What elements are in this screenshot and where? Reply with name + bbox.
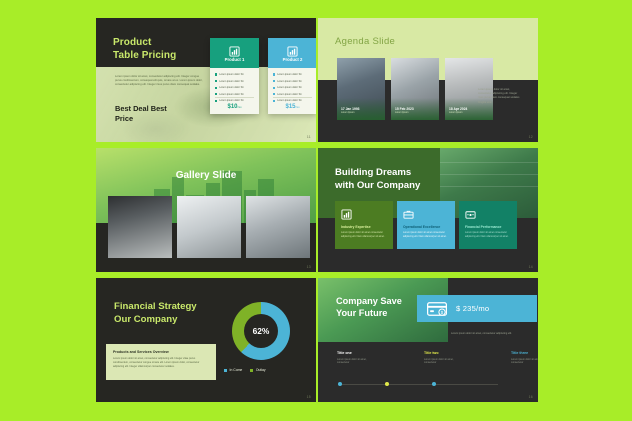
briefcase-icon [403,207,414,224]
photo-caption: 18 Apr 2024 Lorem Ipsum [449,107,467,114]
bar-chart-icon [287,44,298,55]
feature-card-industry-expertise[interactable]: Industry Expertise Lorem ipsum dolor sit… [335,201,393,249]
credit-card-icon: $ [427,302,447,316]
title-line-1: Product [113,37,151,48]
card-title: Product 2 [283,57,303,62]
legend-label: Outlay [256,368,266,372]
bullet-icon [273,80,275,82]
highlight-line-2: Price [115,114,133,123]
gallery-photo-office-interior[interactable] [108,196,172,258]
caption-label: Lorem Ipsum [449,112,467,114]
legend-label: In Come [230,368,243,372]
pricing-card-product-1[interactable]: Product 1 Lorem ipsum dolor Sit Lorem ip… [210,38,259,114]
bullet-icon [215,73,217,75]
date-label: 15 Feb 2023 [395,107,414,111]
bullet-icon [215,87,217,89]
donut-center: 62% [244,314,278,348]
timeline-dot[interactable] [338,382,342,386]
feature-title: Operational Excellence [403,225,450,229]
column-title: Title three [511,351,538,355]
title-line-1: Company Save [336,296,402,306]
page-title: Product Table Pricing [113,36,176,62]
legend-item-outlay: Outlay [250,368,265,372]
timeline-bar [338,384,498,385]
page-number: 14 [529,265,533,269]
list-item: Lorem ipsum dolor Sit [273,86,313,89]
bullet-icon [215,93,217,95]
list-item[interactable]: 17 Jan 1993 Lorem Ipsum [337,58,385,120]
slide-building-dreams[interactable]: Building Dreams with Our Company Industr… [318,148,538,272]
photo-caption: 15 Feb 2023 Lorem Ipsum [395,107,414,114]
slide-thumbnail-grid: Product Table Pricing Lorem ipsum dolor … [96,18,538,402]
bullet-icon [215,100,217,102]
divider [273,97,312,98]
list-item: Lorem ipsum dolor Sit [215,86,255,89]
legend-swatch [224,369,227,372]
price-unit: /mo [296,106,300,109]
timeline-dot[interactable] [432,382,436,386]
page-number: 11 [307,135,311,139]
gallery-photo-business-meeting[interactable] [177,196,241,258]
column-description: Lorem ipsum dolor sit amet, consectetur [511,358,538,365]
bullet-icon [273,100,275,102]
column-title: Title two [424,351,466,355]
title-line-2: Table Pricing [113,50,176,61]
overview-panel: Products and Services Overview Lorem ips… [106,344,216,380]
slide-company-save-your-future[interactable]: Company Save Your Future $ $ 235/mo Lore… [318,278,538,402]
list-item: Lorem ipsum dolor Sit [215,73,255,76]
feature-description: Lorem ipsum dolor sit amet consectetur a… [403,231,450,238]
price-unit: /mo [238,106,242,109]
side-copy: Lorem ipsum dolor sit amet, consectetur … [478,88,522,105]
bullet-icon [273,93,275,95]
title-line-2: Our Company [114,314,177,325]
page-title: Gallery Slide [96,170,316,181]
column-row: Title one Lorem ipsum dolor sit amet, co… [337,351,538,365]
column-description: Lorem ipsum dolor sit amet, consectetur [424,358,466,365]
list-item: Lorem ipsum dolor Sit [215,80,255,83]
page-title: Building Dreams with Our Company [335,167,420,192]
highlight-text: Best Deal Best Price [115,104,205,124]
list-item[interactable]: 15 Feb 2023 Lorem Ipsum [391,58,439,120]
list-item: Lorem ipsum dolor Sit [273,73,313,76]
caption-label: Lorem Ipsum [341,112,360,114]
page-number: 12 [529,135,533,139]
title-line-2: with Our Company [335,180,420,191]
feature-description: Lorem ipsum dolor sit amet consectetur a… [465,231,512,238]
page-number: 15 [307,395,311,399]
legend-item-in-come: In Come [224,368,242,372]
slide-agenda[interactable]: Agenda Slide 17 Jan 1993 Lorem Ipsum 15 … [318,18,538,142]
list-item: Lorem ipsum dolor Sit [215,99,255,102]
title-line-1: Financial Strategy [114,301,197,312]
date-label: 18 Apr 2024 [449,107,467,111]
price-banner[interactable]: $ $ 235/mo [417,295,537,322]
donut-center-label: 62% [253,326,270,336]
price-label: $ 235/mo [456,304,489,313]
list-item: Lorem ipsum dolor Sit [273,93,313,96]
list-item: Lorem ipsum dolor Sit [215,93,255,96]
bullet-icon [273,73,275,75]
panel-title: Products and Services Overview [113,350,209,354]
list-item: Lorem ipsum dolor Sit [273,99,313,102]
donut-chart: 62% [232,302,294,364]
divider [215,97,254,98]
bar-chart-icon [229,44,240,55]
feature-description: Lorem ipsum dolor sit amet consectetur a… [341,231,388,238]
hero-copy: Lorem ipsum dolor sit amet, consectetur … [451,332,527,336]
date-label: 17 Jan 1993 [341,107,360,111]
card-header: Product 1 [210,38,259,68]
column-title: Title one [337,351,379,355]
slide-financial-strategy[interactable]: Financial Strategy Our Company Products … [96,278,316,402]
bullet-icon [273,87,275,89]
wallet-icon [465,207,476,224]
title-line-1: Building Dreams [335,167,411,178]
price-label: $10/mo [210,104,259,110]
card-title: Product 1 [225,57,245,62]
donut-ring: 62% [232,302,290,360]
photo-caption: 17 Jan 1993 Lorem Ipsum [341,107,360,114]
agenda-photo-row: 17 Jan 1993 Lorem Ipsum 15 Feb 2023 Lore… [337,58,493,120]
feature-card-row: Industry Expertise Lorem ipsum dolor sit… [335,201,517,249]
price-label: $15/mo [268,104,316,110]
caption-label: Lorem Ipsum [395,112,414,114]
slide-gallery[interactable]: Gallery Slide 13 [96,148,316,272]
pricing-card-product-2[interactable]: Product 2 Lorem ipsum dolor Sit Lorem ip… [268,38,316,114]
slide-product-table-pricing[interactable]: Product Table Pricing Lorem ipsum dolor … [96,18,316,142]
column-title-two: Title two Lorem ipsum dolor sit amet, co… [424,351,466,365]
column-description: Lorem ipsum dolor sit amet, consectetur [337,358,379,365]
bar-chart-icon [341,207,352,224]
column-title-one: Title one Lorem ipsum dolor sit amet, co… [337,351,379,365]
title-line-2: Your Future [336,308,387,318]
gallery-photo-team-collaboration[interactable] [246,196,310,258]
feature-card-operational-excellence[interactable]: Operational Excellence Lorem ipsum dolor… [397,201,455,249]
feature-title: Industry Expertise [341,225,388,229]
feature-card-financial-performance[interactable]: Financial Performance Lorem ipsum dolor … [459,201,517,249]
timeline-dot[interactable] [385,382,389,386]
page-number: 13 [307,265,311,269]
highlight-line-1: Best Deal Best [115,104,167,113]
feature-title: Financial Performance [465,225,512,229]
page-title: Financial Strategy Our Company [114,300,197,326]
page-title: Company Save Your Future [336,295,402,319]
legend-swatch [250,369,253,372]
timeline [338,382,498,386]
list-item: Lorem ipsum dolor Sit [273,80,313,83]
bullet-icon [215,80,217,82]
panel-copy: Lorem ipsum dolor sit amet, consectetur … [113,357,209,368]
page-number: 16 [529,395,533,399]
card-header: Product 2 [268,38,316,68]
gallery-row [108,196,310,258]
page-title: Agenda Slide [335,36,395,47]
chart-legend: In Come Outlay [224,368,266,372]
body-copy: Lorem ipsum dolor sit amet, consectetur … [115,75,203,88]
column-title-three: Title three Lorem ipsum dolor sit amet, … [511,351,538,365]
